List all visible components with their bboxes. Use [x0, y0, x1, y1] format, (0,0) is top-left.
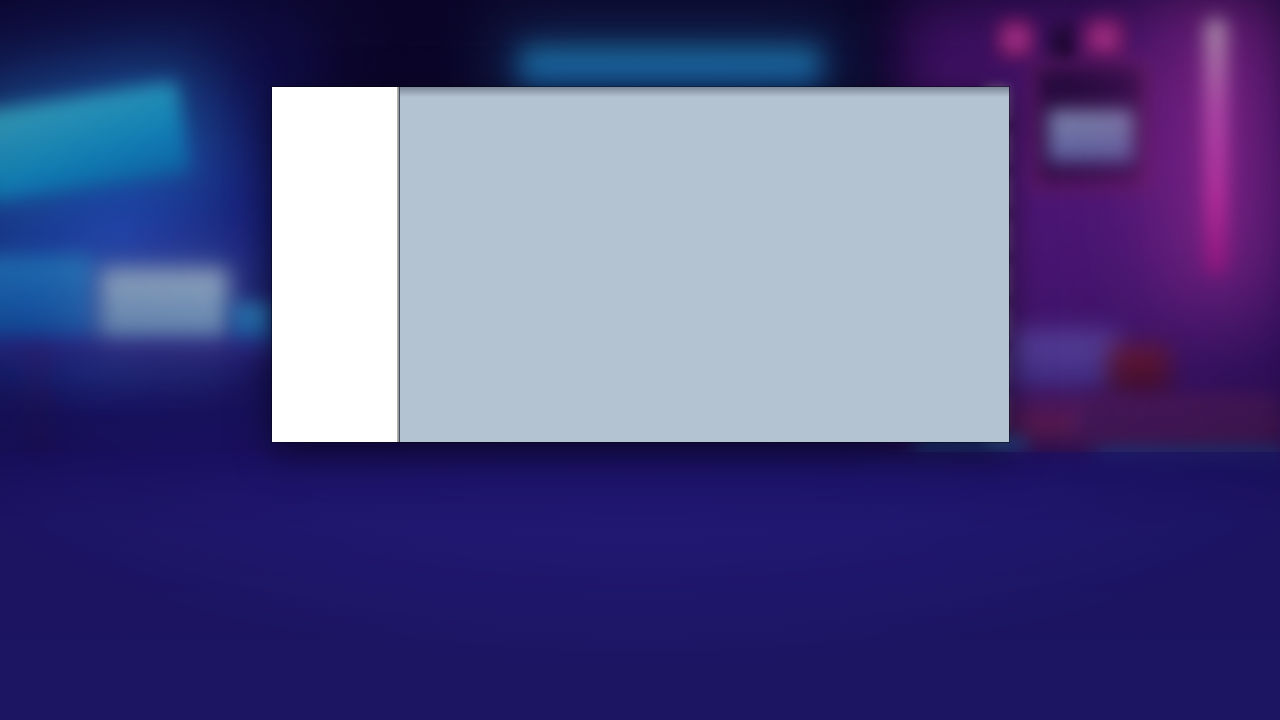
- pitch-grid[interactable]: [399, 87, 1009, 442]
- pitch-curve-layer[interactable]: [399, 87, 1009, 442]
- piano-keyboard[interactable]: [272, 87, 399, 442]
- pitch-correction-window[interactable]: [272, 87, 1009, 442]
